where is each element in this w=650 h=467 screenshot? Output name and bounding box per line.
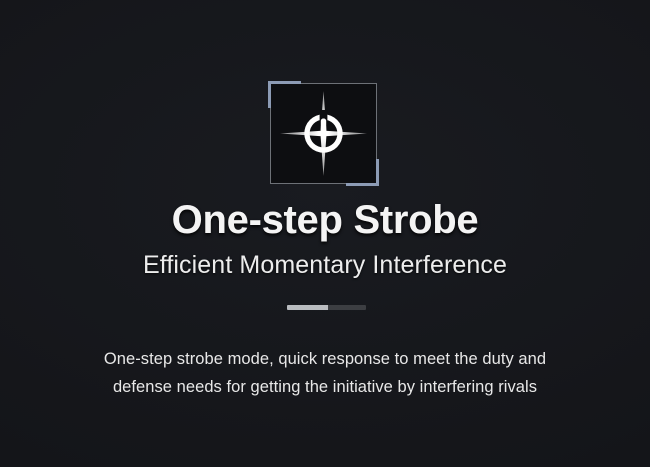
divider-progress-bar — [287, 305, 366, 310]
page-title: One-step Strobe — [0, 196, 650, 244]
strobe-icon-badge — [270, 83, 377, 184]
page-subtitle: Efficient Momentary Interference — [0, 250, 650, 280]
description-line-2: defense needs for getting the initiative… — [75, 373, 575, 401]
divider-track — [328, 305, 366, 310]
title-block: One-step Strobe Efficient Momentary Inte… — [0, 196, 650, 280]
divider-fill — [287, 305, 328, 310]
description-line-1: One-step strobe mode, quick response to … — [75, 345, 575, 373]
strobe-power-star-icon — [270, 83, 377, 184]
feature-panel: One-step Strobe Efficient Momentary Inte… — [0, 0, 650, 467]
feature-description: One-step strobe mode, quick response to … — [75, 345, 575, 401]
